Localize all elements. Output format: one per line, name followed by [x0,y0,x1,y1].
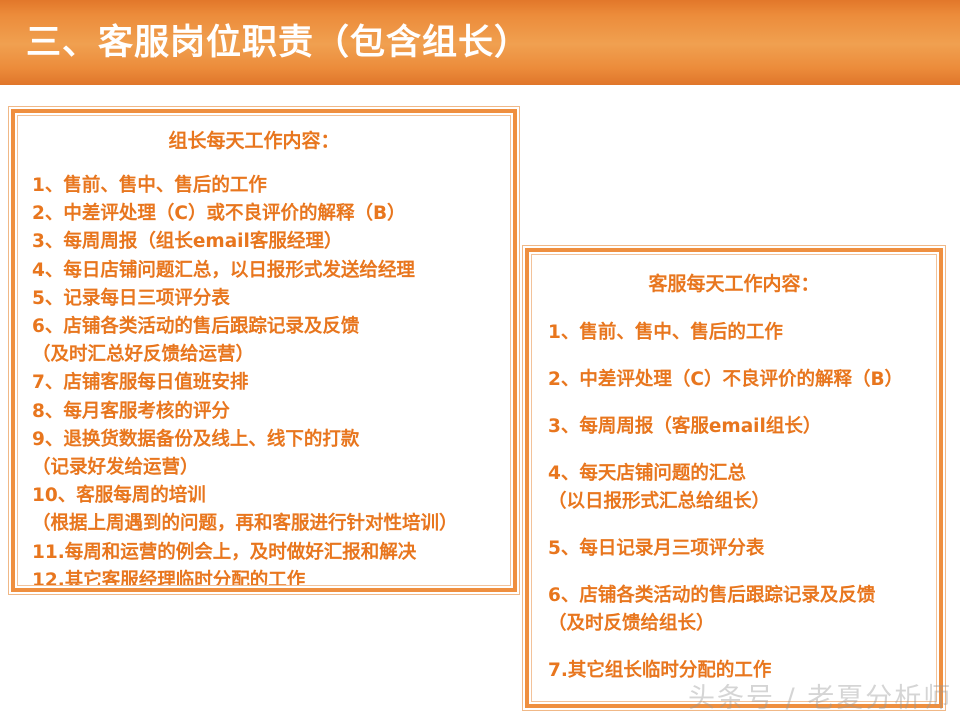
list-item: 3、每周周报（客服email组长） [548,413,936,441]
list-item: 12.其它客服经理临时分配的工作 [32,567,510,586]
list-item: 4、每日店铺问题汇总，以日报形式发送给经理 [32,257,510,285]
leader-panel-body: 组长每天工作内容： 1、售前、售中、售后的工作 2、中差评处理（C）或不良评价的… [17,115,511,586]
leader-duties-panel: 组长每天工作内容： 1、售前、售中、售后的工作 2、中差评处理（C）或不良评价的… [8,106,520,595]
list-item-main: 1、售前、售中、售后的工作 [548,319,936,347]
agent-panel-frame: 客服每天工作内容： 1、售前、售中、售后的工作 2、中差评处理（C）不良评价的解… [525,248,943,708]
leader-duties-list: 1、售前、售中、售后的工作 2、中差评处理（C）或不良评价的解释（B） 3、每周… [18,172,510,586]
list-item: 5、记录每日三项评分表 [32,285,510,313]
header-banner: 三、客服岗位职责（包含组长） [0,0,960,85]
list-item: 8、每月客服考核的评分 [32,398,510,426]
agent-panel-heading: 客服每天工作内容： [532,271,936,297]
list-item-main: 2、中差评处理（C）不良评价的解释（B） [548,366,936,394]
list-item-note: （根据上周遇到的问题，再和客服进行针对性培训） [32,510,510,538]
list-item-note: （记录好发给运营） [32,454,510,482]
list-item: 7、店铺客服每日值班安排 [32,369,510,397]
agent-duties-panel: 客服每天工作内容： 1、售前、售中、售后的工作 2、中差评处理（C）不良评价的解… [522,245,946,711]
agent-duties-list: 1、售前、售中、售后的工作 2、中差评处理（C）不良评价的解释（B） 3、每周周… [532,319,936,685]
list-item: 2、中差评处理（C）不良评价的解释（B） [548,366,936,394]
list-item: 10、客服每周的培训 [32,482,510,510]
list-item-main: 5、每日记录月三项评分表 [548,535,936,563]
list-item: 4、每天店铺问题的汇总 （以日报形式汇总给组长） [548,460,936,516]
list-item: 6、店铺各类活动的售后跟踪记录及反馈 （及时反馈给组长） [548,582,936,638]
page-title: 三、客服岗位职责（包含组长） [26,20,530,66]
list-item-note: （以日报形式汇总给组长） [548,488,936,516]
list-item-main: 6、店铺各类活动的售后跟踪记录及反馈 [548,582,936,610]
list-item: 1、售前、售中、售后的工作 [548,319,936,347]
list-item-note: （及时反馈给组长） [548,610,936,638]
list-item: 9、退换货数据备份及线上、线下的打款 [32,426,510,454]
leader-panel-heading: 组长每天工作内容： [18,128,510,154]
list-item: 5、每日记录月三项评分表 [548,535,936,563]
list-item-main: 3、每周周报（客服email组长） [548,413,936,441]
leader-panel-frame: 组长每天工作内容： 1、售前、售中、售后的工作 2、中差评处理（C）或不良评价的… [11,109,517,592]
list-item: 2、中差评处理（C）或不良评价的解释（B） [32,200,510,228]
list-item: 1、售前、售中、售后的工作 [32,172,510,200]
list-item: 11.每周和运营的例会上，及时做好汇报和解决 [32,539,510,567]
list-item-main: 4、每天店铺问题的汇总 [548,460,936,488]
list-item: 3、每周周报（组长email客服经理） [32,228,510,256]
list-item: 6、店铺各类活动的售后跟踪记录及反馈 [32,313,510,341]
list-item-main: 7.其它组长临时分配的工作 [548,657,936,685]
list-item: 7.其它组长临时分配的工作 [548,657,936,685]
list-item-note: （及时汇总好反馈给运营） [32,341,510,369]
agent-panel-body: 客服每天工作内容： 1、售前、售中、售后的工作 2、中差评处理（C）不良评价的解… [531,254,937,702]
